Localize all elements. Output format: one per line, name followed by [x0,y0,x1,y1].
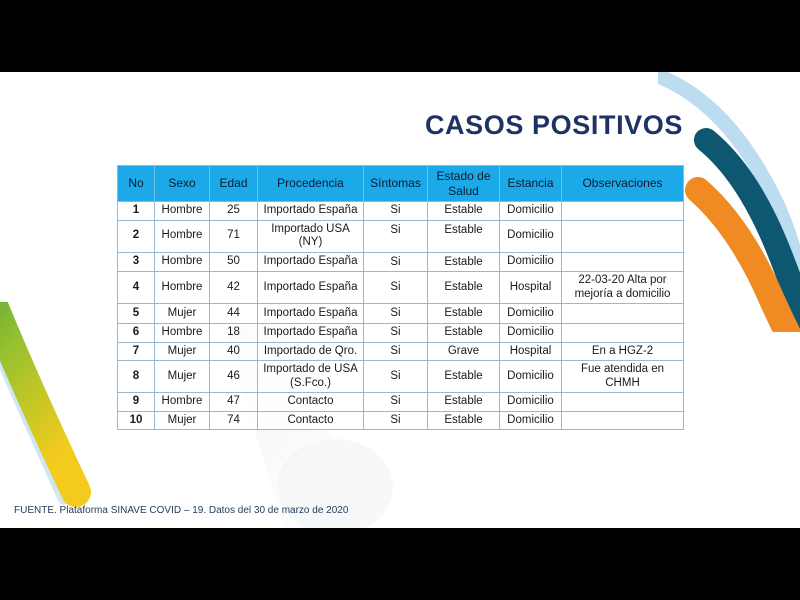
table-row[interactable]: 2 Hombre 71 Importado USA (NY) Si Establ… [118,220,684,252]
cell-observaciones: Fue atendida en CHMH [562,361,684,393]
cell-sintomas: Si [364,393,428,412]
cell-sexo: Hombre [155,202,210,221]
cell-no: 6 [118,323,155,342]
cell-procedencia: Importado España [258,323,364,342]
cell-estado-salud: Estable [428,393,500,412]
cell-no: 8 [118,361,155,393]
cell-observaciones [562,252,684,272]
cell-sintomas: Si [364,272,428,304]
cell-estado-salud: Estable [428,323,500,342]
cell-sintomas: Si [364,304,428,324]
cell-edad: 18 [210,323,258,342]
cell-sintomas: Si [364,342,428,361]
cell-observaciones [562,411,684,430]
cell-observaciones [562,323,684,342]
table-row[interactable]: 7 Mujer 40 Importado de Qro. Si Grave Ho… [118,342,684,361]
cell-estancia: Domicilio [500,393,562,412]
cell-sexo: Hombre [155,220,210,252]
cell-no: 2 [118,220,155,252]
cell-observaciones: En a HGZ-2 [562,342,684,361]
cell-no: 1 [118,202,155,221]
cell-no: 7 [118,342,155,361]
cell-procedencia: Importado USA (NY) [258,220,364,252]
column-header-sintomas[interactable]: Síntomas [364,166,428,202]
cell-procedencia: Importado España [258,252,364,272]
table-row[interactable]: 6 Hombre 18 Importado España Si Estable … [118,323,684,342]
cell-edad: 46 [210,361,258,393]
table-row[interactable]: 3 Hombre 50 Importado España Si Estable … [118,252,684,272]
cell-estado-salud: Estable [428,252,500,272]
cell-sexo: Mujer [155,342,210,361]
cell-sexo: Mujer [155,411,210,430]
cell-no: 10 [118,411,155,430]
cell-procedencia: Importado España [258,304,364,324]
cell-observaciones [562,304,684,324]
cell-estancia: Domicilio [500,411,562,430]
cell-estado-salud: Estable [428,220,500,252]
cell-procedencia: Importado España [258,202,364,221]
cell-sintomas: Si [364,323,428,342]
cell-estado-salud: Estable [428,411,500,430]
cell-procedencia: Contacto [258,411,364,430]
cell-sintomas: Si [364,361,428,393]
cell-sintomas: Si [364,220,428,252]
cell-estado-salud: Estable [428,361,500,393]
cell-estado-salud: Grave [428,342,500,361]
cell-sintomas: Si [364,411,428,430]
cell-procedencia: Contacto [258,393,364,412]
column-header-observaciones[interactable]: Observaciones [562,166,684,202]
cell-edad: 40 [210,342,258,361]
column-header-estado-salud[interactable]: Estado de Salud [428,166,500,202]
cell-estado-salud: Estable [428,272,500,304]
cell-sintomas: Si [364,252,428,272]
cell-estancia: Domicilio [500,323,562,342]
cell-procedencia: Importado de USA (S.Fco.) [258,361,364,393]
slide-root: CASOS POSITIVOS No Sexo Edad Procedencia… [0,0,800,600]
table-row[interactable]: 4 Hombre 42 Importado España Si Estable … [118,272,684,304]
cell-sexo: Hombre [155,323,210,342]
cell-edad: 47 [210,393,258,412]
column-header-edad[interactable]: Edad [210,166,258,202]
cell-sexo: Hombre [155,252,210,272]
cell-estancia: Domicilio [500,202,562,221]
cell-estancia: Hospital [500,342,562,361]
cell-estado-salud: Estable [428,202,500,221]
cell-estancia: Domicilio [500,361,562,393]
cell-sexo: Hombre [155,272,210,304]
cell-estancia: Domicilio [500,304,562,324]
cell-sexo: Mujer [155,304,210,324]
table-row[interactable]: 9 Hombre 47 Contacto Si Estable Domicili… [118,393,684,412]
table-row[interactable]: 8 Mujer 46 Importado de USA (S.Fco.) Si … [118,361,684,393]
cell-estado-salud: Estable [428,304,500,324]
cell-edad: 71 [210,220,258,252]
cell-sexo: Hombre [155,393,210,412]
cell-edad: 50 [210,252,258,272]
cell-observaciones: 22-03-20 Alta por mejoría a domicilio [562,272,684,304]
slide-canvas: CASOS POSITIVOS No Sexo Edad Procedencia… [0,72,800,528]
cell-no: 5 [118,304,155,324]
cell-edad: 44 [210,304,258,324]
cell-observaciones [562,220,684,252]
column-header-no[interactable]: No [118,166,155,202]
cell-estancia: Domicilio [500,220,562,252]
cell-no: 4 [118,272,155,304]
table-header-row: No Sexo Edad Procedencia Síntomas Estado… [118,166,684,202]
cell-procedencia: Importado de Qro. [258,342,364,361]
footer-source-note: FUENTE. Plataforma SINAVE COVID – 19. Da… [14,505,348,516]
cell-edad: 25 [210,202,258,221]
table-row[interactable]: 1 Hombre 25 Importado España Si Estable … [118,202,684,221]
cell-observaciones [562,202,684,221]
column-header-sexo[interactable]: Sexo [155,166,210,202]
cell-observaciones [562,393,684,412]
cell-no: 9 [118,393,155,412]
table-row[interactable]: 5 Mujer 44 Importado España Si Estable D… [118,304,684,324]
table-row[interactable]: 10 Mujer 74 Contacto Si Estable Domicili… [118,411,684,430]
cell-sexo: Mujer [155,361,210,393]
cell-sintomas: Si [364,202,428,221]
cell-no: 3 [118,252,155,272]
cell-edad: 42 [210,272,258,304]
positive-cases-table: No Sexo Edad Procedencia Síntomas Estado… [117,165,684,430]
cell-estancia: Hospital [500,272,562,304]
cell-estancia: Domicilio [500,252,562,272]
column-header-estancia[interactable]: Estancia [500,166,562,202]
page-title: CASOS POSITIVOS [425,110,683,141]
column-header-procedencia[interactable]: Procedencia [258,166,364,202]
cell-edad: 74 [210,411,258,430]
letterbox-bar-top [0,0,800,72]
cell-procedencia: Importado España [258,272,364,304]
letterbox-bar-bottom [0,528,800,600]
